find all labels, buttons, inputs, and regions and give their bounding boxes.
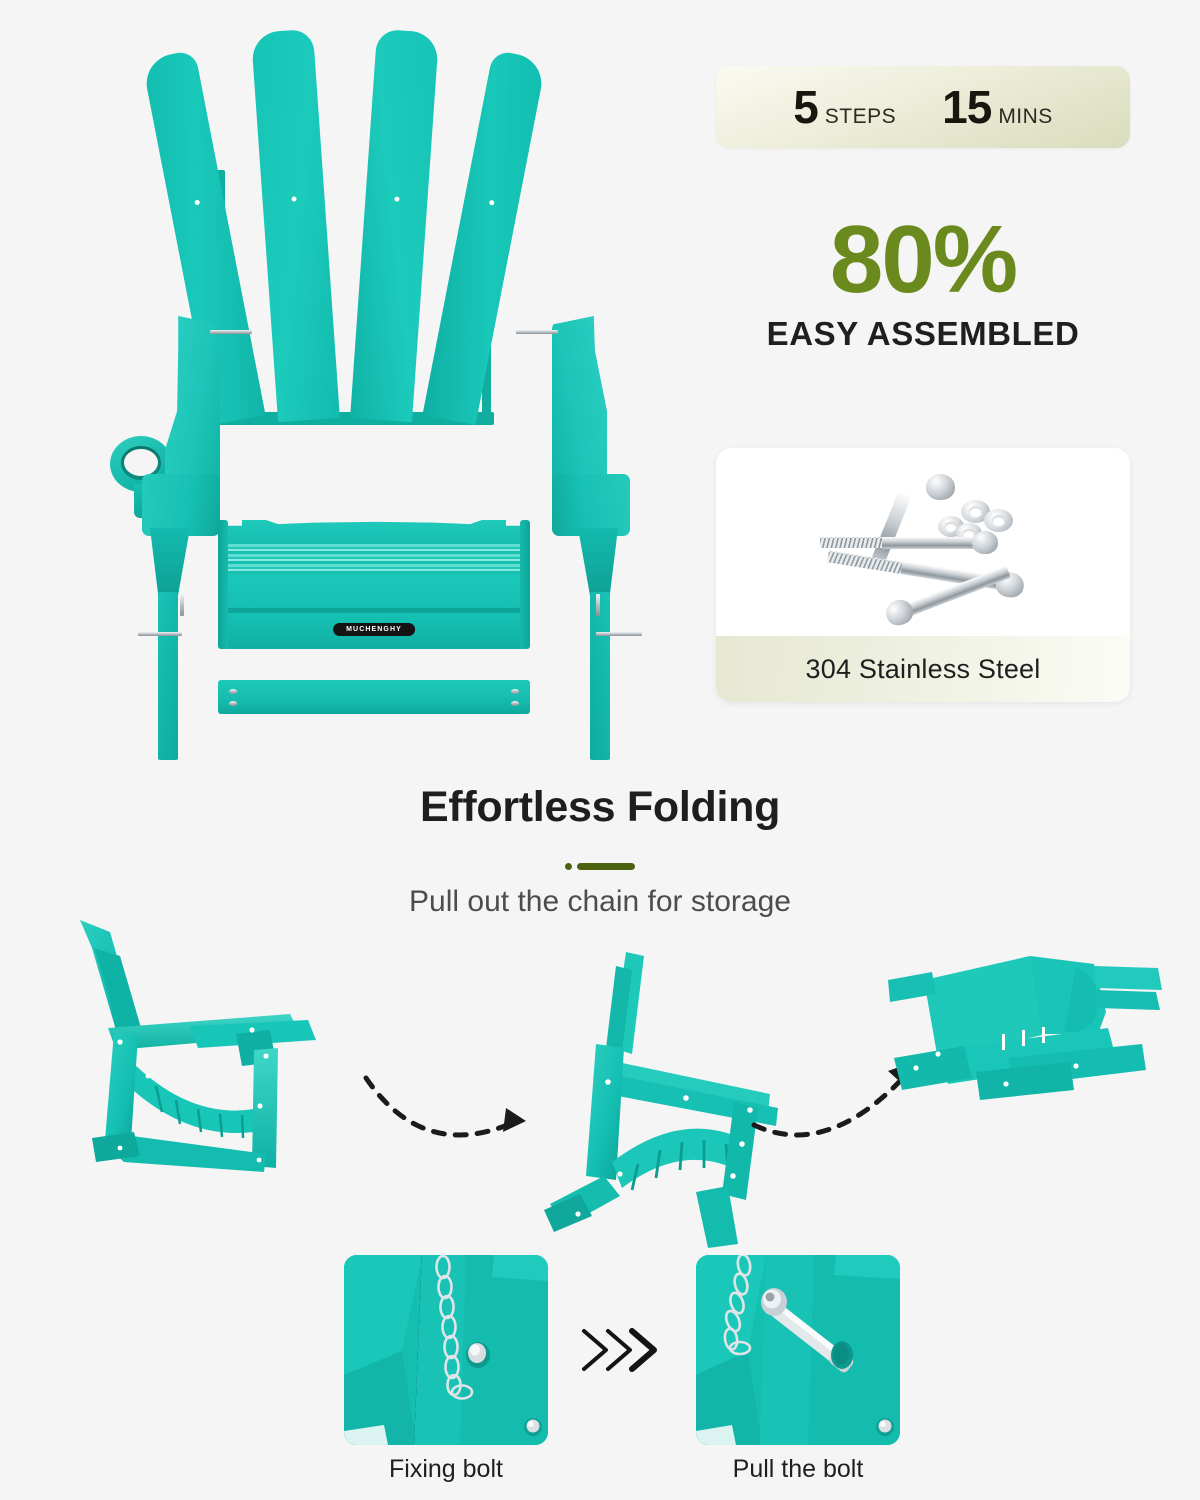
right-arm-bolt-top	[516, 330, 558, 334]
seat-end-cap-right	[520, 520, 530, 649]
mins-unit: MINS	[998, 105, 1053, 129]
left-arm-lower-block	[142, 474, 220, 536]
chair-side-open-illustration	[58, 910, 388, 1240]
right-arm-assembly	[538, 296, 658, 756]
brand-plate-label: MUCHENGHY	[346, 626, 402, 633]
divider-bar-icon	[577, 863, 635, 870]
fold-stage-folded	[880, 938, 1180, 1118]
fixing-bolt-photo	[344, 1255, 548, 1445]
dashed-curve-arrow-icon	[360, 1068, 540, 1160]
fixing-bolt-caption: Fixing bolt	[344, 1455, 548, 1484]
right-arm-lower-block	[552, 474, 630, 536]
right-front-leg-taper	[578, 528, 618, 600]
bottom-rail-screw-1	[229, 689, 237, 694]
fold-arrow-1	[360, 1068, 540, 1160]
folding-section: Effortless Folding Pull out the chain fo…	[0, 770, 1200, 1500]
steps-time-badge: 5 STEPS 15 MINS	[716, 66, 1130, 148]
chevron-right-triple-svg	[578, 1325, 664, 1375]
bottom-rail-screw-4	[511, 701, 519, 706]
assembly-percent-value: 80%	[716, 214, 1130, 305]
left-arm-bolt-mid	[180, 594, 184, 616]
back-slat-2	[251, 29, 340, 422]
right-front-leg	[590, 592, 610, 760]
hardware-card: 304 Stainless Steel	[716, 448, 1130, 702]
hardware-card-label: 304 Stainless Steel	[716, 636, 1130, 702]
divider-dot-icon	[565, 863, 572, 870]
bottom-rail-screw-3	[511, 689, 519, 694]
bottom-rail-screw-2	[229, 701, 237, 706]
assembly-percent-block: 80% EASY ASSEMBLED	[716, 214, 1130, 353]
pull-bolt-photo	[696, 1255, 900, 1445]
exploded-chair-diagram: MUCHENGHY	[40, 20, 700, 760]
pull-bolt-photo-panel	[696, 1255, 900, 1445]
steps-stat: 5 STEPS	[793, 84, 896, 130]
assembly-percent-caption: EASY ASSEMBLED	[716, 315, 1130, 353]
seat-top-lip	[224, 520, 524, 546]
fixing-bolt-caption-text: Fixing bolt	[389, 1455, 503, 1483]
fold-stage-unfolded	[58, 910, 388, 1240]
steps-unit: STEPS	[825, 105, 896, 129]
pull-bolt-caption: Pull the bolt	[696, 1455, 900, 1484]
right-arm-bolt-bottom	[596, 632, 642, 636]
right-info-column: 5 STEPS 15 MINS 80% EASY ASSEMBLED	[716, 0, 1136, 760]
fixing-bolt-photo-panel	[344, 1255, 548, 1445]
pull-bolt-caption-text: Pull the bolt	[733, 1455, 864, 1483]
hardware-photo	[716, 448, 1130, 636]
mins-value: 15	[942, 84, 991, 130]
left-front-leg	[158, 592, 178, 760]
seat-rib-band	[224, 544, 524, 574]
folding-title: Effortless Folding	[0, 783, 1200, 832]
steps-value: 5	[793, 84, 818, 130]
seat-end-cap-left	[218, 520, 228, 649]
section-divider	[565, 863, 635, 870]
back-slat-4	[422, 50, 546, 425]
top-section: MUCHENGHY 5 STEPS 15 MINS 80%	[0, 0, 1200, 770]
brand-plate: MUCHENGHY	[333, 623, 415, 636]
mins-stat: 15 MINS	[942, 84, 1053, 130]
seat-assembly: MUCHENGHY	[218, 520, 530, 652]
left-front-leg-taper	[150, 528, 190, 600]
chevron-right-triple-icon	[578, 1325, 664, 1375]
chair-folded-flat-illustration	[880, 938, 1180, 1118]
hardware-label-text: 304 Stainless Steel	[806, 654, 1041, 685]
right-arm-bolt-mid	[596, 594, 600, 616]
left-arm-bolt-top	[210, 330, 252, 334]
bottom-rail	[218, 680, 530, 714]
left-arm-bolt-bottom	[138, 632, 182, 636]
back-slat-3	[350, 29, 439, 422]
